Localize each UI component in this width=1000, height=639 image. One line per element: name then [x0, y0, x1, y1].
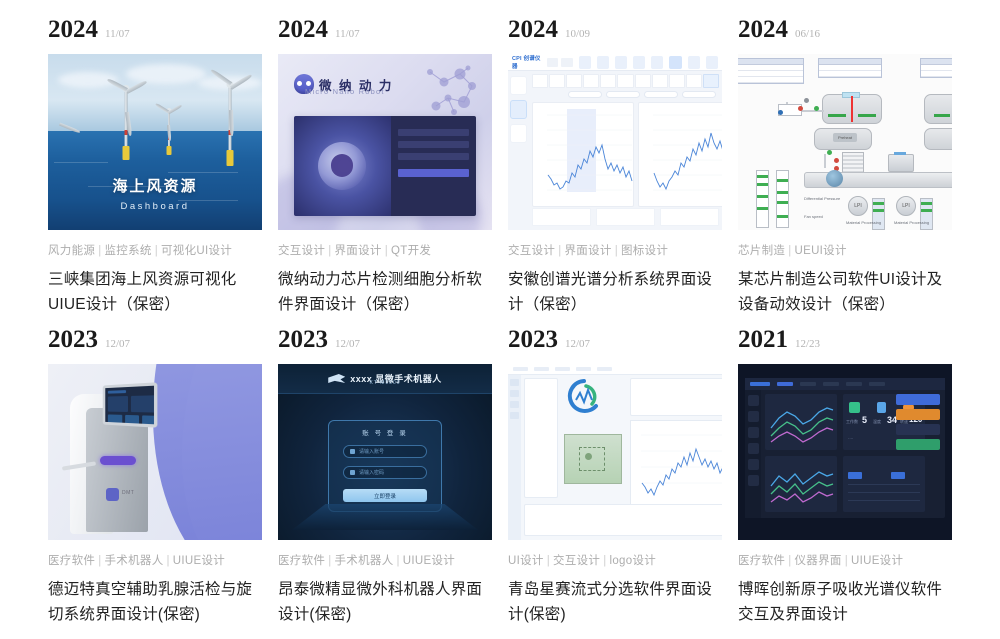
app-sidebar	[508, 375, 521, 540]
card-date-header: 2023 12/07	[270, 318, 500, 364]
sidebar-item	[748, 443, 759, 454]
tag-item: UIUE设计	[403, 555, 455, 567]
header-model: KT-M1000	[278, 380, 492, 386]
parameter-cell	[532, 74, 548, 88]
card-title[interactable]: 博晖创新原子吸收光谱仪软件交互及界面设计	[738, 577, 948, 627]
toolbar-icon	[706, 56, 718, 69]
password-input[interactable]: 请输入密码	[343, 466, 427, 479]
nav-item	[846, 382, 862, 386]
table-tab-active	[891, 472, 905, 479]
menu-item	[513, 367, 528, 371]
card-date-header: 2023 12/07	[40, 318, 270, 364]
login-button[interactable]: 立即登录	[343, 489, 427, 502]
card-thumbnail-medical-kiosk[interactable]: DMT	[48, 364, 262, 540]
hmi-label: Material Processing	[846, 220, 881, 225]
line-chart-svg	[631, 421, 722, 509]
tag-item: 交互设计	[278, 245, 325, 257]
form-field	[398, 129, 469, 136]
toolbar-icon	[579, 56, 591, 69]
nav-item	[869, 382, 885, 386]
portfolio-card[interactable]: 2024 11/07	[40, 8, 270, 318]
sidebar-item	[748, 427, 759, 438]
action-button-warning	[896, 409, 940, 420]
tag-item: 风力能源	[48, 245, 95, 257]
indicator-bar	[920, 198, 933, 230]
tag-item: UIUE设计	[173, 555, 225, 567]
legend-group	[660, 208, 719, 226]
card-title[interactable]: 德迈特真空辅助乳腺活检与旋切系统界面设计(保密)	[48, 577, 258, 627]
form-field	[398, 153, 469, 160]
card-year: 2024	[48, 16, 98, 44]
app-brand-logo: CPI 创谱仪器	[512, 54, 544, 70]
card-date-header: 2021 12/23	[730, 318, 960, 364]
action-button-primary	[896, 394, 940, 405]
card-date-header: 2024 06/16	[730, 8, 960, 54]
tag-item: 界面设计	[335, 245, 382, 257]
hmi-label: Material Processing	[894, 220, 929, 225]
parameter-cell	[583, 74, 599, 88]
tag-item: QT开发	[391, 245, 431, 257]
molecule-icon	[410, 60, 488, 122]
menu-item	[576, 367, 591, 371]
indicator-bar	[776, 170, 789, 228]
user-icon	[350, 449, 355, 454]
nav-logo	[750, 382, 770, 386]
parameter-cell	[549, 74, 565, 88]
card-tags: 医疗软件|手术机器人|UIUE设计	[278, 552, 500, 568]
spectrum-chart-right	[638, 102, 722, 207]
parameter-cell-highlighted	[703, 74, 719, 88]
load-port-indicator	[894, 152, 906, 155]
tag-item: 交互设计	[508, 245, 555, 257]
tag-item: 医疗软件	[278, 555, 325, 567]
card-date-header: 2024 11/07	[40, 8, 270, 54]
username-input[interactable]: 请输入账号	[343, 445, 427, 458]
toolbar-icon	[615, 56, 627, 69]
indicator-bar	[872, 198, 885, 230]
login-form-area	[391, 116, 476, 216]
card-thumbnail-dark-dashboard[interactable]: 工作数 5 温度 34 转速 120 ····	[738, 364, 952, 540]
login-panel-title: 账 号 登 录	[329, 421, 441, 437]
card-title[interactable]: 某芯片制造公司软件UI设计及设备动效设计（保密）	[738, 267, 948, 317]
app-navbar	[745, 378, 945, 390]
card-month-day: 11/07	[335, 28, 360, 40]
portfolio-card[interactable]: 2024 11/07 微 纳 动 力	[270, 8, 500, 318]
wind-turbine	[96, 72, 156, 146]
card-thumbnail-micro-nano[interactable]: 微 纳 动 力 Micro Nano Robot	[278, 54, 492, 230]
toolbar-icon	[597, 56, 609, 69]
card-date-header: 2024 10/09	[500, 8, 730, 54]
sidebar-item	[510, 76, 527, 95]
parameter-cell	[617, 74, 633, 88]
action-button-success	[896, 439, 940, 450]
beam-line	[851, 96, 853, 122]
portfolio-card[interactable]: 2021 12/23	[730, 318, 960, 628]
card-year: 2024	[278, 16, 328, 44]
toolbar-icon-selected	[669, 56, 681, 69]
card-month-day: 11/07	[105, 28, 130, 40]
card-thumbnail-surgical-robot[interactable]: xxxx 显微手术机器人 KT-M1000 账 号 登 录 请输入账号 请输入密…	[278, 364, 492, 540]
status-dot-green	[827, 150, 832, 155]
card-year: 2021	[738, 326, 788, 354]
login-button	[398, 169, 469, 177]
chart-legend-row	[532, 208, 719, 226]
sidebar-item	[510, 401, 519, 408]
portfolio-card[interactable]: 2023 12/07 DMT 医疗软件|手术机器人|UIUE设计 德迈特	[40, 318, 270, 628]
thermometer-icon	[877, 402, 886, 413]
card-title[interactable]: 安徽创谱光谱分析系统界面设计（保密）	[508, 267, 718, 317]
card-month-day: 12/07	[335, 338, 360, 350]
card-thumbnail-flow-cytometry[interactable]	[508, 364, 722, 540]
card-month-day: 12/07	[105, 338, 130, 350]
app-sidebar	[510, 76, 530, 206]
parameter-row	[532, 74, 719, 88]
parameter-cell	[566, 74, 582, 88]
legend-group	[532, 208, 591, 226]
wave-line	[168, 172, 238, 173]
portfolio-grid: 2024 11/07	[0, 0, 1000, 628]
sample-image-view	[564, 434, 622, 484]
sidebar-item	[510, 379, 519, 386]
cell-image-area	[294, 116, 391, 216]
card-thumbnail-offshore-wind[interactable]: 海上风资源 Dashboard	[48, 54, 262, 230]
kpi-label: 温度	[873, 419, 881, 425]
sidebar-item	[748, 395, 759, 406]
portfolio-card[interactable]: 2024 10/09 CPI 创谱仪器	[500, 8, 730, 318]
card-title[interactable]: 三峡集团海上风资源可视化UIUE设计（保密）	[48, 267, 258, 317]
card-tags: 交互设计|界面设计|图标设计	[508, 242, 730, 258]
app-toolbar: CPI 创谱仪器	[508, 54, 722, 71]
nav-item	[823, 382, 839, 386]
process-chamber	[924, 128, 952, 150]
card-title[interactable]: 青岛星赛流式分选软件界面设计(保密)	[508, 577, 718, 627]
toolbar-icon	[688, 56, 700, 69]
kpi-value: 5	[862, 415, 867, 425]
floor-glow	[292, 504, 478, 530]
status-panel	[524, 504, 722, 536]
card-tags: 医疗软件|手术机器人|UIUE设计	[48, 552, 270, 568]
stack-module	[842, 152, 864, 174]
toolbar-icon	[651, 56, 663, 69]
sidebar-item-active	[510, 100, 527, 119]
card-year: 2024	[508, 16, 558, 44]
wind-turbine	[48, 98, 74, 138]
app-sidebar	[745, 390, 761, 518]
line-chart-svg	[639, 103, 722, 208]
form-field	[398, 141, 469, 148]
sidebar-item	[510, 412, 519, 419]
filter-chip	[644, 91, 678, 98]
cell-visual	[318, 142, 366, 190]
card-date-header: 2024 11/07	[270, 8, 500, 54]
thumbnail-overlay-subtitle: Dashboard	[48, 201, 262, 212]
status-dot-red	[834, 158, 839, 163]
tag-item: 界面设计	[565, 245, 612, 257]
toolbar-button	[547, 58, 558, 67]
card-title[interactable]: 微纳动力芯片检测细胞分析软件界面设计（保密）	[278, 267, 488, 317]
filter-chip	[682, 91, 716, 98]
list-icon	[849, 402, 860, 413]
spectrum-chart-left	[532, 102, 634, 207]
chamber-label: Preheat	[833, 133, 857, 142]
kpi-label: 工作数	[846, 419, 858, 425]
tag-item: UEUI设计	[795, 245, 847, 257]
action-button-neutral	[896, 424, 940, 435]
card-tags: 医疗软件|仪器界面|UIUE设计	[738, 552, 960, 568]
lpi-gauge: LPI	[896, 196, 916, 216]
tag-item: 手术机器人	[335, 555, 394, 567]
card-tags: 交互设计|界面设计|QT开发	[278, 242, 500, 258]
device-logo	[106, 488, 119, 501]
card-year: 2023	[278, 326, 328, 354]
card-thumbnail-semiconductor-hmi[interactable]: Preheat LPI LPI	[738, 54, 952, 230]
menu-item	[534, 367, 549, 371]
tag-item: 可视化UI设计	[161, 245, 232, 257]
tag-item: UIUE设计	[851, 555, 903, 567]
tag-item: 图标设计	[621, 245, 668, 257]
status-dot-gray	[804, 98, 809, 103]
card-thumbnail-spectrum[interactable]: CPI 创谱仪器	[508, 54, 722, 230]
sidebar-item	[748, 475, 759, 486]
menu-item	[555, 367, 570, 371]
filter-chip	[606, 91, 640, 98]
parameter-cell	[600, 74, 616, 88]
tag-item: 医疗软件	[48, 555, 95, 567]
table-tab-active	[848, 472, 862, 479]
toolbar-button	[561, 58, 572, 67]
filter-chip	[568, 91, 602, 98]
lock-icon	[350, 470, 355, 475]
card-month-day: 12/23	[795, 338, 820, 350]
parameter-cell	[635, 74, 651, 88]
tag-item: 医疗软件	[738, 555, 785, 567]
card-date-header: 2023 12/07	[500, 318, 730, 364]
data-table	[920, 58, 952, 78]
parameter-cell	[652, 74, 668, 88]
app-header: xxxx 显微手术机器人	[278, 364, 492, 394]
chart-card-top	[765, 394, 837, 450]
process-chamber	[924, 94, 952, 124]
card-year: 2023	[48, 326, 98, 354]
sidebar-item	[510, 124, 527, 143]
sidebar-item	[510, 390, 519, 397]
username-placeholder: 请输入账号	[359, 448, 384, 455]
robot-arm-pivot	[826, 170, 843, 187]
kpi-subrow: ····	[848, 436, 853, 441]
device-screen	[103, 382, 158, 427]
app-preview-panel	[294, 116, 476, 216]
card-month-day: 06/16	[795, 28, 820, 40]
pipe-line	[824, 154, 826, 168]
sidebar-item	[748, 411, 759, 422]
card-tags: UI设计|交互设计|logo设计	[508, 552, 730, 568]
tag-item: 仪器界面	[795, 555, 842, 567]
nav-item-active	[777, 382, 793, 386]
parameter-cell	[686, 74, 702, 88]
card-tags: 芯片制造|UEUI设计	[738, 242, 960, 258]
status-dot-blue	[778, 110, 783, 115]
brand-logo-icon	[562, 378, 606, 414]
filter-chip-row	[568, 91, 716, 98]
multi-line-chart-svg	[765, 456, 837, 512]
card-year: 2024	[738, 16, 788, 44]
thumbnail-overlay-title: 海上风资源	[48, 175, 262, 196]
card-month-day: 12/07	[565, 338, 590, 350]
data-table-card	[843, 456, 925, 512]
login-panel: 账 号 登 录 请输入账号 请输入密码 立即登录	[328, 420, 442, 512]
legend-group	[596, 208, 655, 226]
status-dot-green	[814, 106, 819, 111]
tag-item: logo设计	[610, 555, 657, 567]
tag-item: 芯片制造	[738, 245, 785, 257]
app-menubar	[508, 364, 722, 375]
tag-item: 手术机器人	[105, 555, 164, 567]
card-tags: 风力能源|监控系统|可视化UI设计	[48, 242, 270, 258]
portfolio-card[interactable]: 2023 12/07 xxxx 显微手术机器人 KT-M1000 账 号 登 录…	[270, 318, 500, 628]
tag-item: 监控系统	[105, 245, 152, 257]
wind-turbine	[152, 98, 186, 154]
tag-item: 交互设计	[553, 555, 600, 567]
lpi-gauge: LPI	[848, 196, 868, 216]
chart-card-bottom	[765, 456, 837, 512]
hmi-label: Fan speed	[804, 214, 823, 219]
scatter-line-chart	[630, 420, 722, 508]
device-logo-text: DMT	[122, 490, 134, 496]
dashboard-window: 工作数 5 温度 34 转速 120 ····	[745, 378, 945, 518]
load-port	[888, 154, 914, 172]
wave-line	[54, 162, 108, 163]
data-table	[738, 58, 804, 84]
card-month-day: 10/09	[565, 28, 590, 40]
data-table	[818, 58, 882, 78]
toolbar-icon	[633, 56, 645, 69]
info-panel	[630, 378, 722, 416]
password-placeholder: 请输入密码	[359, 469, 384, 476]
multi-line-chart-svg	[765, 394, 837, 450]
sidebar-item	[748, 459, 759, 470]
parameter-cell	[669, 74, 685, 88]
tool-panel	[524, 378, 558, 498]
menu-item	[597, 367, 612, 371]
brand-name-en: Micro Nano Robot	[305, 87, 385, 96]
hmi-label: Differential Pressure	[804, 196, 840, 201]
wind-turbine	[198, 62, 262, 158]
card-title[interactable]: 昂泰微精显微外科机器人界面设计(保密)	[278, 577, 488, 627]
portfolio-card[interactable]: 2023 12/07	[500, 318, 730, 628]
line-chart-svg	[533, 103, 635, 208]
status-dot-red	[798, 106, 803, 111]
nav-item	[800, 382, 816, 386]
device-light-slot	[100, 456, 136, 465]
indicator-bar	[756, 170, 769, 228]
tag-item: UI设计	[508, 555, 544, 567]
portfolio-card[interactable]: 2024 06/16 Preheat	[730, 8, 960, 318]
card-year: 2023	[508, 326, 558, 354]
